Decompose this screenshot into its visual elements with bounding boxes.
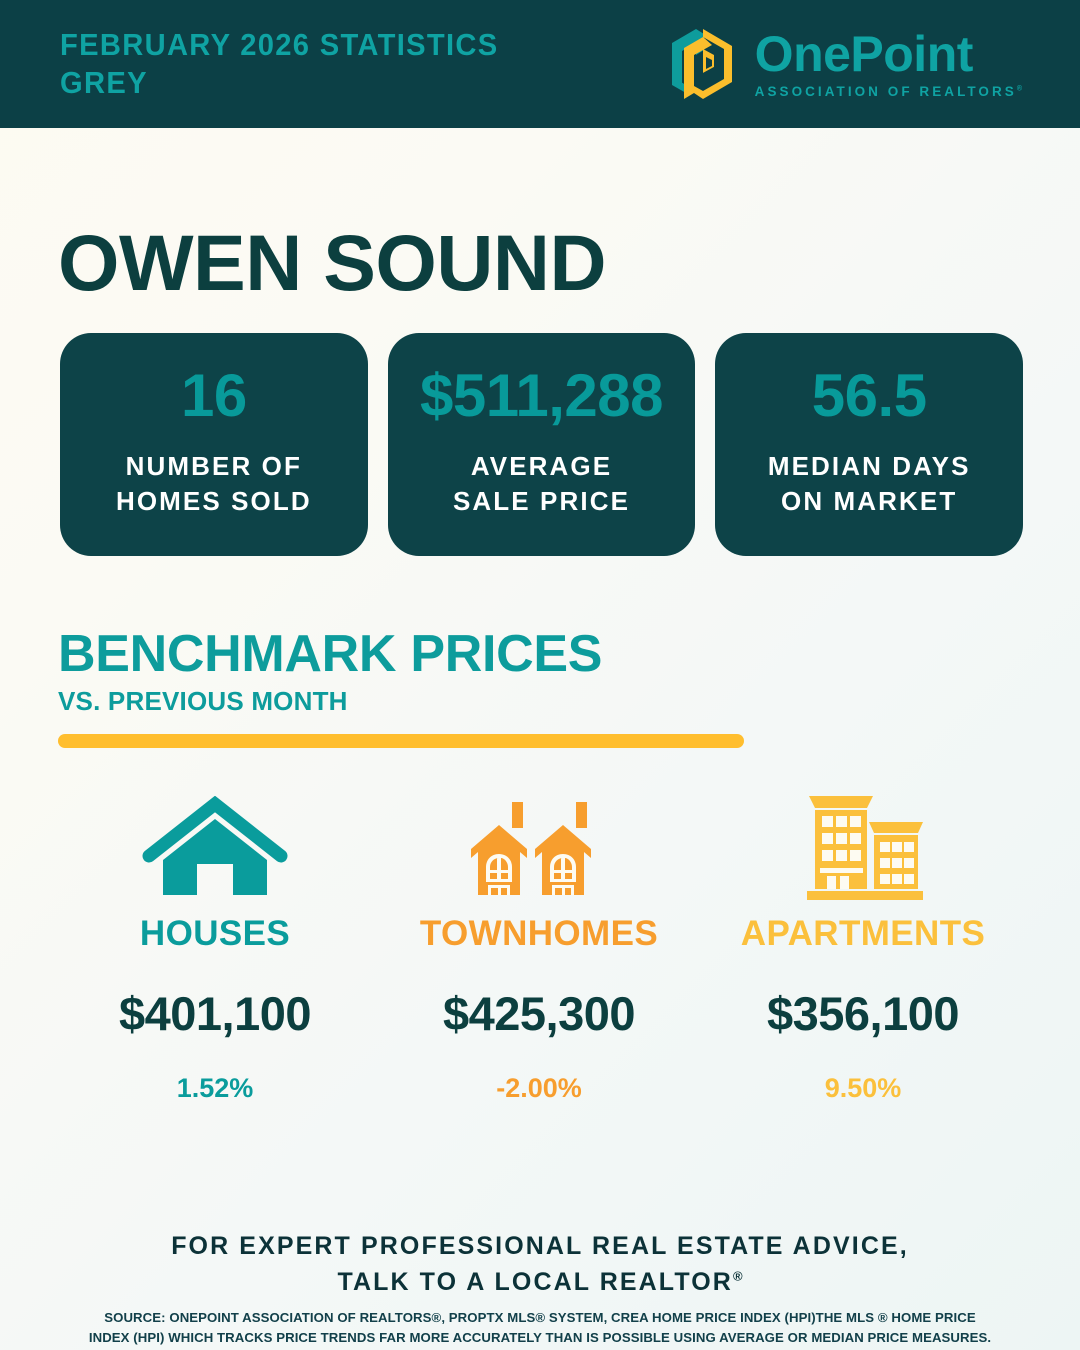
property-column-apartments: APARTMENTS $356,100 9.50% (701, 782, 1025, 1104)
call-to-action: FOR EXPERT PROFESSIONAL REAL ESTATE ADVI… (0, 1228, 1080, 1301)
property-column-townhomes: TOWNHOMES $425,300 -2.00% (377, 782, 701, 1104)
header-title-line1: FEBRUARY 2026 STATISTICS (60, 26, 499, 64)
source-disclaimer: SOURCE: ONEPOINT ASSOCIATION OF REALTORS… (70, 1308, 1010, 1349)
benchmark-divider (58, 734, 744, 748)
stat-value: 16 (181, 366, 247, 426)
cta-line2: TALK TO A LOCAL REALTOR® (0, 1264, 1080, 1300)
logo-name: OnePoint (755, 30, 1022, 79)
logo-wordmark: OnePoint ASSOCIATION OF REALTORS® (755, 30, 1022, 99)
registered-mark: ® (733, 1269, 743, 1284)
stat-label: MEDIAN DAYS ON MARKET (768, 449, 971, 518)
registered-mark: ® (1017, 85, 1022, 92)
stat-card-median-days-on-market: 56.5 MEDIAN DAYS ON MARKET (715, 333, 1023, 556)
source-line1: SOURCE: ONEPOINT ASSOCIATION OF REALTORS… (70, 1308, 1010, 1328)
stat-label: AVERAGE SALE PRICE (453, 449, 630, 518)
stat-cards: 16 NUMBER OF HOMES SOLD $511,288 AVERAGE… (60, 333, 1023, 556)
stat-value: $511,288 (420, 366, 663, 426)
property-label: TOWNHOMES (420, 914, 658, 954)
property-change: 9.50% (825, 1073, 902, 1104)
header-title: FEBRUARY 2026 STATISTICS GREY (60, 26, 499, 102)
benchmark-title: BENCHMARK PRICES (58, 628, 1080, 680)
apartments-icon (787, 782, 939, 900)
property-change: 1.52% (177, 1073, 254, 1104)
house-icon (141, 782, 289, 900)
stat-card-average-sale-price: $511,288 AVERAGE SALE PRICE (388, 333, 696, 556)
logo-subtitle: ASSOCIATION OF REALTORS® (755, 84, 1022, 99)
onepoint-logo[interactable]: OnePoint ASSOCIATION OF REALTORS® (662, 23, 1022, 105)
benchmark-subtitle: VS. PREVIOUS MONTH (58, 686, 1080, 717)
property-column-houses: HOUSES $401,100 1.52% (53, 782, 377, 1104)
benchmark-heading: BENCHMARK PRICES VS. PREVIOUS MONTH (58, 628, 1080, 748)
cta-line1: FOR EXPERT PROFESSIONAL REAL ESTATE ADVI… (0, 1228, 1080, 1264)
onepoint-logo-mark (662, 23, 738, 105)
property-type-row: HOUSES $401,100 1.52% (53, 782, 1025, 1104)
property-price: $425,300 (443, 986, 635, 1041)
townhomes-icon (464, 782, 614, 900)
page-header: FEBRUARY 2026 STATISTICS GREY OnePoint A… (0, 0, 1080, 128)
property-label: HOUSES (140, 914, 290, 954)
property-price: $401,100 (119, 986, 311, 1041)
property-change: -2.00% (496, 1073, 582, 1104)
stat-value: 56.5 (812, 366, 927, 426)
property-label: APARTMENTS (741, 914, 985, 954)
header-title-line2: GREY (60, 64, 499, 102)
stat-label: NUMBER OF HOMES SOLD (116, 449, 312, 518)
city-title: OWEN SOUND (58, 223, 1080, 302)
property-price: $356,100 (767, 986, 959, 1041)
stat-card-homes-sold: 16 NUMBER OF HOMES SOLD (60, 333, 368, 556)
source-line2: INDEX (HPI) WHICH TRACKS PRICE TRENDS FA… (70, 1328, 1010, 1348)
